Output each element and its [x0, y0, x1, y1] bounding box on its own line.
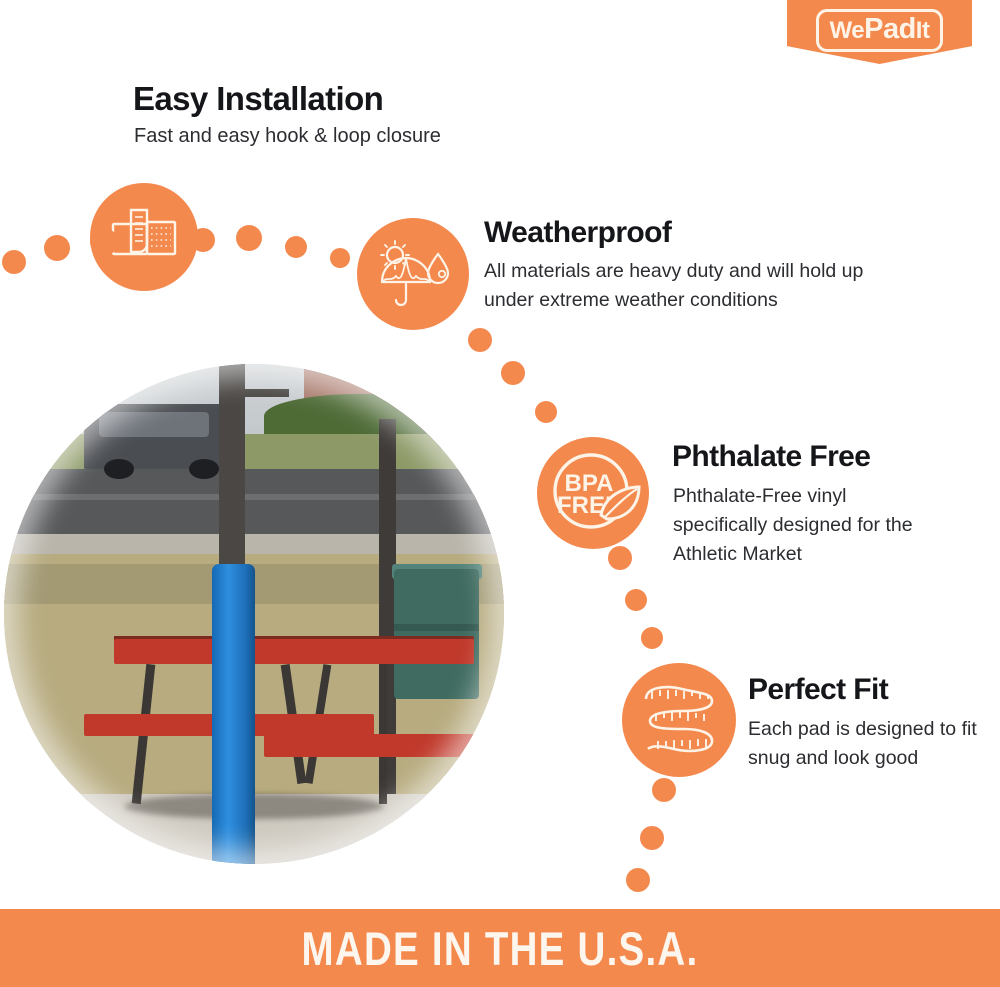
bpa-free-leaf-icon: BPA FREE: [537, 437, 649, 549]
trail-dot: [90, 228, 118, 256]
sun-umbrella-rain-icon: [357, 218, 469, 330]
feature-title-easy-installation: Easy Installation: [133, 80, 383, 118]
photo-trash-can-band: [394, 624, 479, 631]
product-photo: [4, 364, 504, 864]
feature-subtitle-perfect-fit: Each pad is designed to fit snug and loo…: [748, 715, 978, 773]
photo-suv-wheel-front: [104, 459, 134, 479]
trail-dot: [535, 401, 557, 423]
brand-logo-banner: We Pad It: [787, 0, 972, 64]
photo-trash-can: [394, 569, 479, 699]
photo-blue-pole-pad: [212, 564, 255, 864]
photo-bench-right: [264, 734, 474, 757]
trail-dot: [44, 235, 70, 261]
feature-subtitle-easy-installation: Fast and easy hook & loop closure: [134, 125, 441, 148]
trail-dot: [608, 546, 632, 570]
measuring-tape-icon: [622, 663, 736, 777]
feature-title-perfect-fit: Perfect Fit: [748, 673, 888, 707]
trail-dot: [468, 328, 492, 352]
trail-dot: [625, 589, 647, 611]
trail-dot: [285, 236, 307, 258]
brand-logo-pad: Pad: [864, 15, 916, 44]
infographic-page: We Pad It Easy Installation Fast and eas…: [0, 0, 1000, 987]
brand-logo-it: It: [916, 19, 930, 43]
trail-dot: [501, 361, 525, 385]
feature-title-phthalate-free: Phthalate Free: [672, 440, 870, 474]
brand-logo-we: We: [830, 19, 865, 43]
photo-road: [4, 469, 504, 534]
trail-dot: [641, 627, 663, 649]
trail-dot: [652, 778, 676, 802]
brand-logo-box: We Pad It: [816, 9, 944, 52]
photo-table-top: [114, 639, 474, 664]
feature-subtitle-phthalate-free: Phthalate-Free vinyl specifically design…: [673, 482, 943, 569]
feature-title-weatherproof: Weatherproof: [484, 216, 671, 250]
photo-main-pole: [219, 364, 245, 594]
trail-dot: [330, 248, 350, 268]
trail-dot: [626, 868, 650, 892]
made-in-usa-text: MADE IN THE U.S.A.: [302, 921, 699, 976]
trail-dot: [2, 250, 26, 274]
photo-suv-wheel-rear: [189, 459, 219, 479]
trail-dot: [640, 826, 664, 850]
photo-curb: [4, 534, 504, 554]
trail-dot: [191, 228, 215, 252]
trail-dot: [236, 225, 262, 251]
feature-subtitle-weatherproof: All materials are heavy duty and will ho…: [484, 257, 904, 315]
photo-road-line: [4, 494, 504, 500]
made-in-usa-banner: MADE IN THE U.S.A.: [0, 909, 1000, 987]
photo-suv-window: [99, 412, 209, 437]
